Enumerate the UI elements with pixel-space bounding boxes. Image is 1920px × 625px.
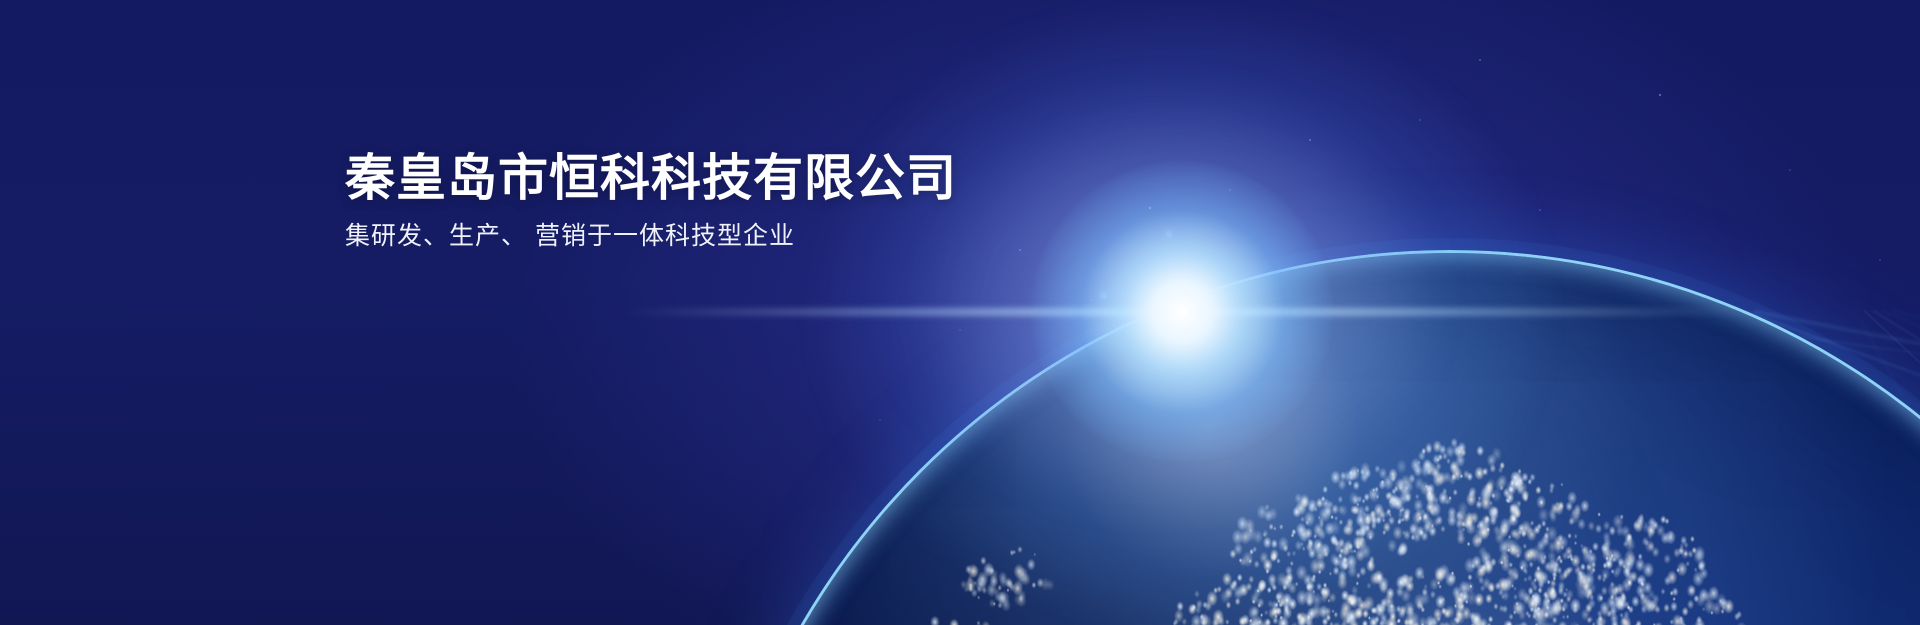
- company-tagline: 集研发、生产、 营销于一体科技型企业: [345, 220, 957, 254]
- page-title: 秦皇岛市恒科科技有限公司: [345, 150, 957, 206]
- banner-text-block: 秦皇岛市恒科科技有限公司 集研发、生产、 营销于一体科技型企业: [345, 150, 957, 254]
- hero-banner: 秦皇岛市恒科科技有限公司 集研发、生产、 营销于一体科技型企业: [0, 0, 1920, 625]
- sun-core: [1032, 162, 1332, 462]
